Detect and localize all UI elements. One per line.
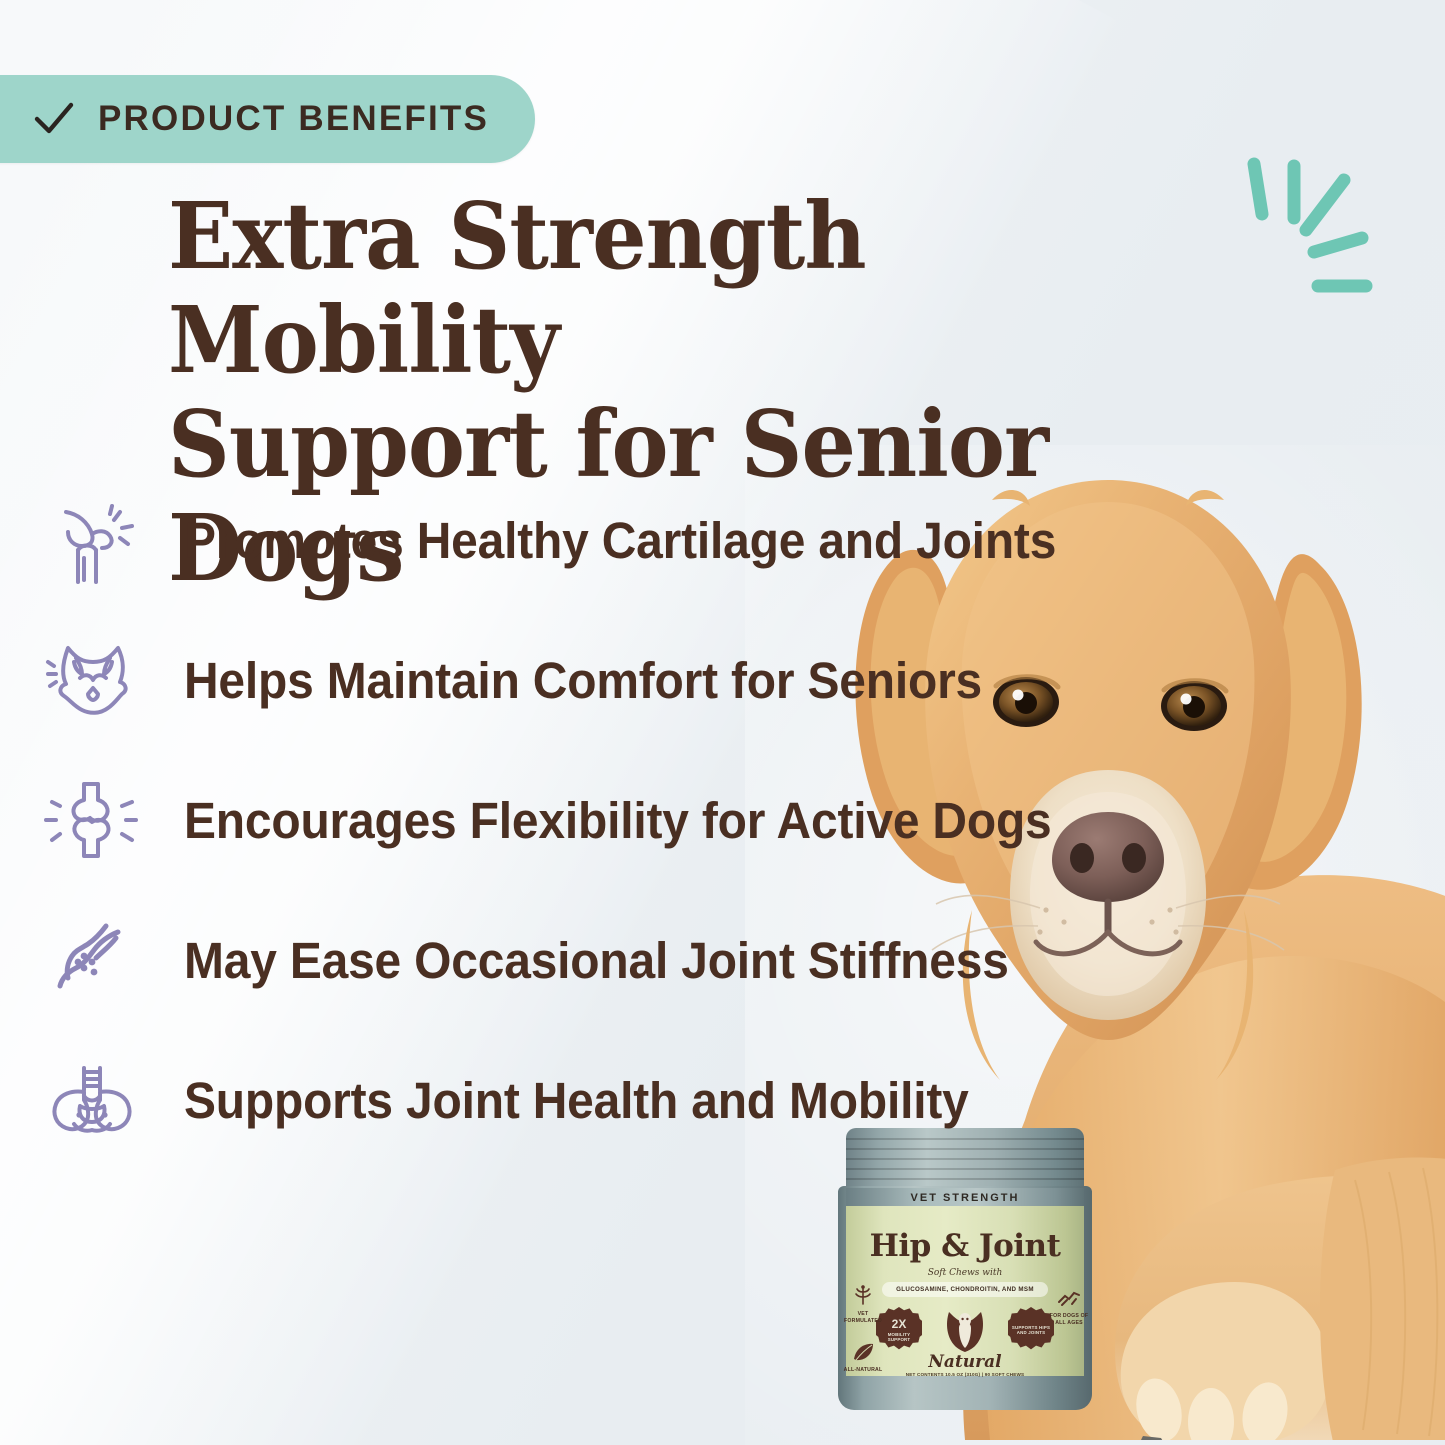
jar-flag-natural-label: ALL-NATURAL xyxy=(844,1367,883,1373)
starburst-icon xyxy=(1232,152,1422,342)
leaf-icon xyxy=(850,1340,876,1364)
caduceus-icon xyxy=(850,1284,876,1308)
jar-seal-row: 2X MOBILITY SUPPORT SUPPORTS HI xyxy=(876,1304,1054,1356)
jar-brand-line: VET STRENGTH xyxy=(911,1192,1020,1204)
bone-joint-icon xyxy=(44,772,140,868)
benefit-text-flexibility: Encourages Flexibility for Active Dogs xyxy=(184,791,1052,850)
check-icon xyxy=(32,99,76,139)
jar-flag-all-natural: ALL-NATURAL xyxy=(842,1340,884,1374)
pelvis-hip-icon xyxy=(44,1052,140,1148)
jar-label: Hip & Joint Soft Chews with GLUCOSAMINE,… xyxy=(846,1206,1084,1376)
product-jar: VET STRENGTH Hip & Joint Soft Chews with… xyxy=(836,1128,1094,1410)
benefit-item-flexibility: Encourages Flexibility for Active Dogs xyxy=(44,750,1104,890)
jar-brand-strip: VET STRENGTH xyxy=(846,1188,1084,1208)
spine-joint-icon xyxy=(44,912,140,1008)
jar-flag-ages-label: FOR DOGS OF ALL AGES xyxy=(1050,1313,1089,1326)
benefit-item-stiffness: May Ease Occasional Joint Stiffness xyxy=(44,890,1104,1030)
jar-flag-vet-formulated: VET FORMULATED xyxy=(842,1284,884,1324)
jar-flag-all-ages: FOR DOGS OF ALL AGES xyxy=(1048,1286,1090,1326)
dog-crest-icon xyxy=(939,1304,991,1356)
benefits-list: Promotes Healthy Cartilage and Joints He… xyxy=(44,470,1104,1170)
benefit-text-cartilage: Promotes Healthy Cartilage and Joints xyxy=(184,511,1056,570)
benefit-text-mobility: Supports Joint Health and Mobility xyxy=(184,1071,969,1130)
running-dog-icon xyxy=(1056,1286,1082,1310)
jar-ingredients: GLUCOSAMINE, CHONDROITIN, AND MSM xyxy=(882,1282,1048,1297)
benefit-item-mobility: Supports Joint Health and Mobility xyxy=(44,1030,1104,1170)
jar-product-name: Hip & Joint xyxy=(846,1228,1084,1264)
product-benefits-infographic: VET STRENGTH Hip & Joint Soft Chews with… xyxy=(0,0,1445,1445)
knee-joint-icon xyxy=(44,492,140,588)
page-title-line1: Extra Strength Mobility xyxy=(168,182,866,394)
benefit-item-comfort: Helps Maintain Comfort for Seniors xyxy=(44,610,1104,750)
dog-face-icon xyxy=(44,632,140,728)
seal-2x-value: 2X xyxy=(892,1318,907,1332)
jar-body: VET STRENGTH Hip & Joint Soft Chews with… xyxy=(838,1186,1092,1410)
product-benefits-badge[interactable]: PRODUCT BENEFITS xyxy=(0,75,535,163)
seal-supports-label: SUPPORTS HIPS AND JOINTS xyxy=(1008,1325,1054,1335)
jar-flag-vet-label: VET FORMULATED xyxy=(844,1311,882,1324)
benefit-text-comfort: Helps Maintain Comfort for Seniors xyxy=(184,651,982,710)
benefit-item-cartilage: Promotes Healthy Cartilage and Joints xyxy=(44,470,1104,610)
benefit-text-stiffness: May Ease Occasional Joint Stiffness xyxy=(184,931,1009,990)
product-benefits-label: PRODUCT BENEFITS xyxy=(98,99,489,139)
jar-subtitle: Soft Chews with xyxy=(846,1268,1084,1278)
